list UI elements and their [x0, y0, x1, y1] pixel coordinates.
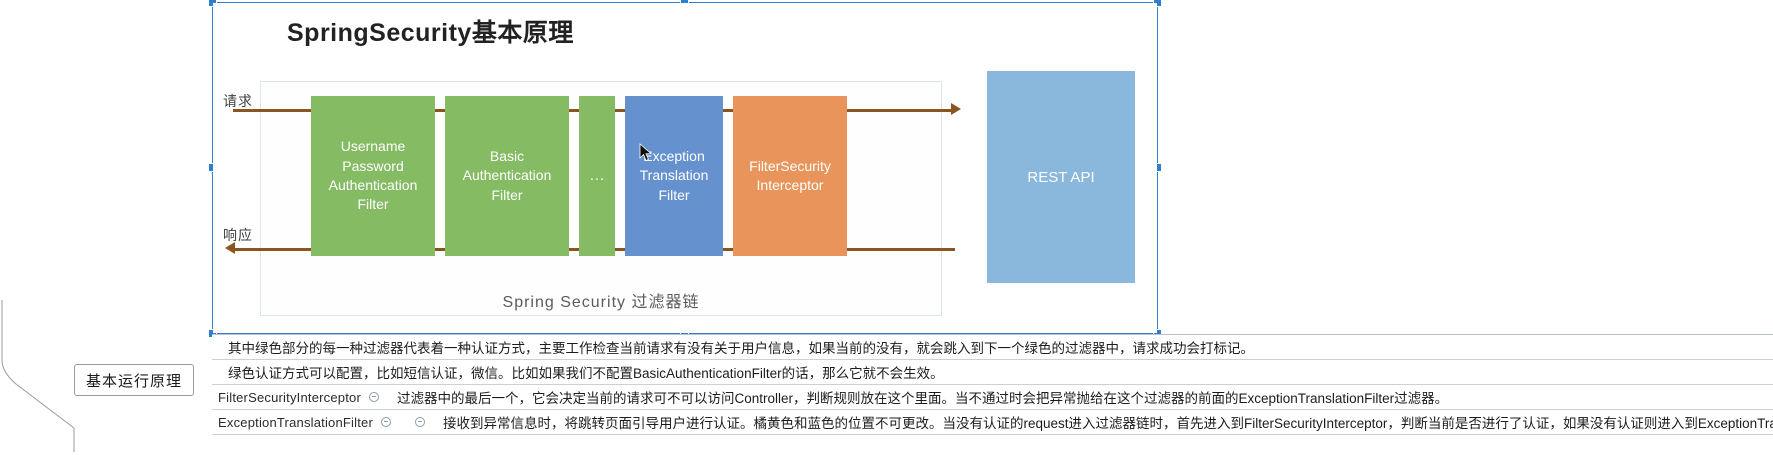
note-row[interactable]: 绿色认证方式可以配置，比如短信认证，微信。比如如果我们不配置BasicAuthe… [212, 360, 1773, 385]
note-text: 过滤器中的最后一个，它会决定当前的请求可不可以访问Controller，判断规则… [389, 387, 1448, 407]
note-row[interactable]: 其中绿色部分的每一种过滤器代表着一种认证方式，主要工作检查当前请求有没有关于用户… [212, 335, 1773, 360]
request-arrow-icon [951, 103, 961, 115]
filter-box-basic-authentication-filter[interactable]: BasicAuthenticationFilter [445, 96, 569, 256]
filter-chain-caption: Spring Security 过滤器链 [260, 288, 942, 312]
note-row[interactable]: FilterSecurityInterceptor过滤器中的最后一个，它会决定当… [212, 385, 1773, 410]
rest-api-box: REST API [987, 71, 1135, 283]
filter-box-label: FilterSecurityInterceptor [737, 157, 843, 196]
diagram-title: SpringSecurity基本原理 [287, 13, 574, 49]
filter-box-label: BasicAuthenticationFilter [449, 147, 565, 205]
filter-box-ellipsis-filter[interactable]: … [579, 96, 615, 256]
request-label: 请求 [223, 91, 253, 111]
filter-box-filter-security-interceptor[interactable]: FilterSecurityInterceptor [733, 96, 847, 256]
filter-box-label: … [583, 165, 611, 187]
mindmap-node-label: 基本运行原理 [86, 370, 182, 391]
note-key-label: ExceptionTranslationFilter [218, 415, 381, 430]
filter-box-exception-translation-filter[interactable]: ExceptionTranslationFilter [625, 96, 723, 256]
filter-box-label: UsernamePasswordAuthenticationFilter [315, 137, 431, 214]
rest-api-label: REST API [1027, 169, 1094, 186]
collapse-toggle-icon[interactable] [369, 392, 379, 402]
spring-security-diagram-image[interactable]: SpringSecurity基本原理 请求 响应 UsernamePasswor… [213, 3, 1157, 333]
note-key-label: FilterSecurityInterceptor [218, 390, 369, 405]
collapse-toggle-icon[interactable] [381, 417, 391, 427]
filter-box-username-password-authentication-filter[interactable]: UsernamePasswordAuthenticationFilter [311, 96, 435, 256]
notes-panel: 其中绿色部分的每一种过滤器代表着一种认证方式，主要工作检查当前请求有没有关于用户… [212, 334, 1773, 435]
mindmap-node-basic-principle[interactable]: 基本运行原理 [74, 364, 194, 396]
note-text: 其中绿色部分的每一种过滤器代表着一种认证方式，主要工作检查当前请求有没有关于用户… [220, 337, 1254, 357]
note-text: 绿色认证方式可以配置，比如短信认证，微信。比如如果我们不配置BasicAuthe… [220, 362, 944, 382]
note-row[interactable]: ExceptionTranslationFilter接收到异常信息时，将跳转页面… [212, 410, 1773, 435]
collapse-toggle-icon[interactable] [415, 417, 425, 427]
mouse-cursor-icon [639, 143, 653, 163]
note-text: 接收到异常信息时，将跳转页面引导用户进行认证。橘黄色和蓝色的位置不可更改。当没有… [435, 412, 1773, 432]
response-arrow-icon [225, 242, 235, 254]
